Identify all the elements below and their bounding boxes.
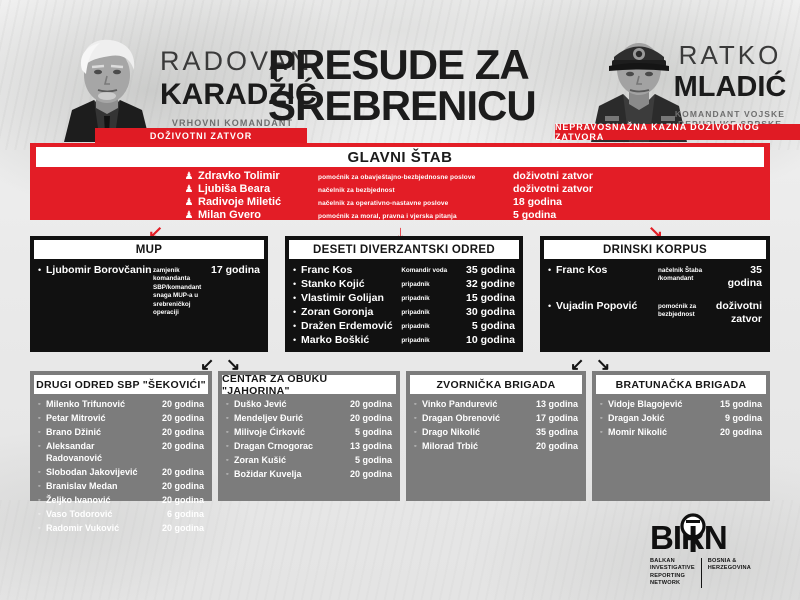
person-name: Drago Nikolić bbox=[422, 426, 524, 438]
person-sentence: 5 godina bbox=[463, 320, 515, 333]
person-name: Aleksandar Radovanović bbox=[46, 440, 153, 465]
list-item: ◦Aleksandar Radovanović20 godina bbox=[38, 440, 204, 465]
person-role: zamjenik komandanta SBP/komandant snaga … bbox=[153, 264, 208, 317]
list-item: ◦Dragan Jokić9 godina bbox=[600, 412, 762, 425]
person-icon: ♟ bbox=[180, 171, 198, 183]
person-role: pomoćnik za obavještajno-bezbjednosne po… bbox=[318, 174, 513, 181]
birn-logo: BIRN BALKANINVESTIGATIVEREPORTINGNETWORK… bbox=[650, 520, 790, 582]
list-item: ◦Milorad Trbić20 godina bbox=[414, 440, 578, 453]
page-title: PRESUDE ZA SREBRENICU bbox=[268, 44, 568, 126]
list-item: ◦Duško Jević20 godina bbox=[226, 398, 392, 411]
list-item: •Stanko Kojićpripadnik32 godine bbox=[293, 278, 515, 291]
sentence-banner-mladic: NEPRAVOSNAŽNA KAZNA DOŽIVOTNOG ZATVORA bbox=[555, 124, 800, 140]
person-name: Zoran Kušić bbox=[234, 454, 341, 466]
list-item: ◦Željko Ivanović20 godina bbox=[38, 494, 204, 507]
person-sentence: 20 godina bbox=[341, 398, 392, 410]
bullet-circle-icon: ◦ bbox=[38, 466, 46, 479]
list-item: •Ljubomir Borovčaninzamjenik komandanta … bbox=[38, 264, 260, 317]
box-deseti-diverzantski-odred-body: •Franc KosKomandir voda35 godina•Stanko … bbox=[293, 264, 515, 348]
person-sentence: 9 godina bbox=[708, 412, 762, 424]
bullet-icon: • bbox=[293, 278, 301, 291]
box-mup-title: MUP bbox=[34, 240, 264, 259]
person-sentence: 13 godina bbox=[524, 398, 578, 410]
person-name: Slobodan Jakovijević bbox=[46, 466, 153, 478]
box-drinski-korpus: DRINSKI KORPUS •Franc Kosnačelnik Štaba … bbox=[540, 236, 770, 352]
person-name: Duško Jević bbox=[234, 398, 341, 410]
bullet-circle-icon: ◦ bbox=[38, 494, 46, 507]
bullet-circle-icon: ◦ bbox=[600, 412, 608, 425]
person-sentence: 30 godina bbox=[463, 306, 515, 319]
list-item: ◦Zoran Kušić5 godina bbox=[226, 454, 392, 467]
bullet-icon: • bbox=[548, 264, 556, 277]
bullet-icon: • bbox=[293, 320, 301, 333]
bullet-circle-icon: ◦ bbox=[38, 480, 46, 493]
list-item: ◦Branislav Medan20 godina bbox=[38, 480, 204, 493]
box-drinski-korpus-title: DRINSKI KORPUS bbox=[544, 240, 766, 259]
logo-divider bbox=[701, 558, 702, 588]
sentence-banner-karadzic: DOŽIVOTNI ZATVOR bbox=[95, 128, 307, 143]
person-name: Branislav Medan bbox=[46, 480, 153, 492]
person-icon: ♟ bbox=[180, 197, 198, 209]
bullet-circle-icon: ◦ bbox=[600, 426, 608, 439]
first-name-right: RATKO bbox=[660, 42, 800, 68]
person-name: Željko Ivanović bbox=[46, 494, 153, 506]
bullet-circle-icon: ◦ bbox=[600, 398, 608, 411]
person-name: Milivoje Ćirković bbox=[234, 426, 341, 438]
bullet-circle-icon: ◦ bbox=[38, 508, 46, 521]
box-drugi-odred-sbp-sekovici-body: ◦Milenko Trifunović20 godina◦Petar Mitro… bbox=[38, 398, 204, 536]
person-sentence: 20 godina bbox=[153, 480, 204, 492]
list-item: •Franc KosKomandir voda35 godina bbox=[293, 264, 515, 277]
person-name: Dražen Erdemović bbox=[301, 320, 401, 333]
person-role: pomoćnik za bezbjednost bbox=[658, 300, 714, 320]
birn-logo-right-lines: BOSNIA &HERZEGOVINA bbox=[708, 558, 751, 588]
person-sentence: 32 godine bbox=[463, 278, 515, 291]
box-centar-za-obuku-jahorina: CENTAR ZA OBUKU "JAHORINA" ◦Duško Jević2… bbox=[218, 371, 400, 501]
logo-line: BOSNIA & bbox=[708, 558, 751, 565]
person-name: Zoran Goronja bbox=[301, 306, 401, 319]
box-mup-body: •Ljubomir Borovčaninzamjenik komandanta … bbox=[38, 264, 260, 318]
bullet-circle-icon: ◦ bbox=[414, 412, 422, 425]
person-sentence: 20 godina bbox=[153, 522, 204, 534]
list-item: •Vujadin Popovićpomoćnik za bezbjednostd… bbox=[548, 300, 762, 326]
box-deseti-diverzantski-odred-title: DESETI DIVERZANTSKI ODRED bbox=[289, 240, 519, 259]
list-item: ◦Slobodan Jakovijević20 godina bbox=[38, 466, 204, 479]
infographic-canvas: RADOVAN KARADŽIĆ VRHOVNI KOMANDANT DOŽIV… bbox=[0, 0, 800, 600]
bullet-circle-icon: ◦ bbox=[414, 426, 422, 439]
page-title-line2: SREBRENICU bbox=[268, 85, 568, 126]
bullet-icon: • bbox=[293, 292, 301, 305]
bullet-circle-icon: ◦ bbox=[414, 440, 422, 453]
bullet-circle-icon: ◦ bbox=[38, 440, 46, 453]
person-sentence: 5 godina bbox=[341, 426, 392, 438]
person-sentence: 35 godina bbox=[714, 264, 762, 290]
box-bratunacka-brigada-title: BRATUNAČKA BRIGADA bbox=[596, 375, 766, 394]
person-sentence: 15 godina bbox=[463, 292, 515, 305]
bullet-circle-icon: ◦ bbox=[226, 440, 234, 453]
bullet-circle-icon: ◦ bbox=[226, 468, 234, 481]
person-sentence: 15 godina bbox=[708, 398, 762, 410]
box-centar-za-obuku-jahorina-title: CENTAR ZA OBUKU "JAHORINA" bbox=[222, 375, 396, 394]
person-role: pripadnik bbox=[401, 292, 463, 303]
person-name: Vinko Pandurević bbox=[422, 398, 524, 410]
person-name: Milan Gvero bbox=[198, 209, 318, 221]
list-item: ◦Milenko Trifunović20 godina bbox=[38, 398, 204, 411]
person-name: Zdravko Tolimir bbox=[198, 170, 318, 182]
person-name: Milorad Trbić bbox=[422, 440, 524, 452]
person-icon: ♟ bbox=[180, 184, 198, 196]
person-name: Vujadin Popović bbox=[556, 300, 658, 313]
person-role: pomoćnik za moral, pravna i vjerska pita… bbox=[318, 213, 513, 220]
bullet-circle-icon: ◦ bbox=[226, 454, 234, 467]
person-sentence: 10 godina bbox=[463, 334, 515, 347]
sentence-banner-karadzic-label: DOŽIVOTNI ZATVOR bbox=[150, 131, 252, 141]
role-right-line1: KOMANDANT VOJSKE bbox=[660, 110, 800, 119]
person-name: Milenko Trifunović bbox=[46, 398, 153, 410]
box-zvornicka-brigada-body: ◦Vinko Pandurević13 godina◦Dragan Obreno… bbox=[414, 398, 578, 454]
glavni-stab-panel: GLAVNI ŠTAB ♟Zdravko Tolimirpomoćnik za … bbox=[30, 143, 770, 220]
bullet-icon: • bbox=[548, 300, 556, 313]
list-item: •Zoran Goronjapripadnik30 godina bbox=[293, 306, 515, 319]
list-item: ◦Vinko Pandurević13 godina bbox=[414, 398, 578, 411]
portrait-radovan-karadzic bbox=[52, 30, 162, 142]
box-drugi-odred-sbp-sekovici: DRUGI ODRED SBP "ŠEKOVIĆI" ◦Milenko Trif… bbox=[30, 371, 212, 501]
list-item: ◦Vaso Todorović6 godina bbox=[38, 508, 204, 521]
person-icon: ♟ bbox=[180, 210, 198, 222]
person-name: Dragan Obrenović bbox=[422, 412, 524, 424]
person-sentence: 20 godina bbox=[153, 412, 204, 424]
person-name: Brano Džinić bbox=[46, 426, 153, 438]
person-name: Franc Kos bbox=[556, 264, 658, 277]
bullet-circle-icon: ◦ bbox=[38, 398, 46, 411]
person-name: Petar Mitrović bbox=[46, 412, 153, 424]
person-sentence: doživotni zatvor bbox=[513, 183, 593, 195]
person-name: Mendeljev Đurić bbox=[234, 412, 341, 424]
person-sentence: 5 godina bbox=[513, 209, 556, 221]
box-centar-za-obuku-jahorina-body: ◦Duško Jević20 godina◦Mendeljev Đurić20 … bbox=[226, 398, 392, 482]
box-zvornicka-brigada: ZVORNIČKA BRIGADA ◦Vinko Pandurević13 go… bbox=[406, 371, 586, 501]
person-sentence: 20 godina bbox=[341, 412, 392, 424]
person-sentence: 20 godina bbox=[524, 440, 578, 452]
bullet-icon: • bbox=[293, 264, 301, 277]
box-drinski-korpus-body: •Franc Kosnačelnik Štaba /komandant35 go… bbox=[548, 264, 762, 336]
bullet-icon: • bbox=[293, 334, 301, 347]
person-sentence: 20 godina bbox=[708, 426, 762, 438]
person-name: Vidoje Blagojević bbox=[608, 398, 708, 410]
list-item: ◦Mendeljev Đurić20 godina bbox=[226, 412, 392, 425]
person-name: Vaso Todorović bbox=[46, 508, 153, 520]
bullet-circle-icon: ◦ bbox=[38, 412, 46, 425]
person-name: Franc Kos bbox=[301, 264, 401, 277]
person-sentence: 35 godina bbox=[463, 264, 515, 277]
list-item: ◦Milivoje Ćirković5 godina bbox=[226, 426, 392, 439]
person-name: Dragan Crnogorac bbox=[234, 440, 341, 452]
box-mup: MUP •Ljubomir Borovčaninzamjenik komanda… bbox=[30, 236, 268, 352]
list-item: ◦Dragan Obrenović17 godina bbox=[414, 412, 578, 425]
person-sentence: 20 godina bbox=[153, 494, 204, 506]
glavni-stab-row: ♟Radivoje Miletićnačelnik za operativno-… bbox=[180, 196, 800, 209]
person-role: pripadnik bbox=[401, 334, 463, 345]
birn-logo-subtitle: BALKANINVESTIGATIVEREPORTINGNETWORK BOSN… bbox=[650, 558, 790, 588]
person-name: Radivoje Miletić bbox=[198, 196, 318, 208]
glavni-stab-row: ♟Zdravko Tolimirpomoćnik za obavještajno… bbox=[180, 170, 800, 183]
person-role: načelnik Štaba /komandant bbox=[658, 264, 714, 284]
bullet-icon: • bbox=[38, 264, 46, 277]
person-role: pripadnik bbox=[401, 278, 463, 289]
box-drugi-odred-sbp-sekovici-title: DRUGI ODRED SBP "ŠEKOVIĆI" bbox=[34, 375, 208, 394]
person-sentence: 17 godina bbox=[524, 412, 578, 424]
person-sentence: 20 godina bbox=[341, 468, 392, 480]
box-zvornicka-brigada-title: ZVORNIČKA BRIGADA bbox=[410, 375, 582, 394]
person-sentence: 20 godina bbox=[153, 426, 204, 438]
page-title-line1: PRESUDE ZA bbox=[268, 44, 568, 85]
person-sentence: 13 godina bbox=[341, 440, 392, 452]
person-name: Marko Boškić bbox=[301, 334, 401, 347]
bullet-circle-icon: ◦ bbox=[38, 426, 46, 439]
person-role: načelnik za operativno-nastavne poslove bbox=[318, 200, 513, 207]
person-sentence: 20 godina bbox=[153, 466, 204, 478]
list-item: ◦Božidar Kuvelja20 godina bbox=[226, 468, 392, 481]
person-role: Komandir voda bbox=[401, 264, 463, 275]
person-name: Božidar Kuvelja bbox=[234, 468, 341, 480]
person-name: Dragan Jokić bbox=[608, 412, 708, 424]
list-item: ◦Dragan Crnogorac13 godina bbox=[226, 440, 392, 453]
person-sentence: 5 godina bbox=[341, 454, 392, 466]
birn-logo-wordmark: BIRN bbox=[650, 520, 790, 556]
name-block-right: RATKO MLADIĆ KOMANDANT VOJSKE REPUBLIKE … bbox=[660, 42, 800, 128]
person-sentence: 18 godina bbox=[513, 196, 562, 208]
logo-line: HERZEGOVINA bbox=[708, 565, 751, 572]
list-item: ◦Momir Nikolić20 godina bbox=[600, 426, 762, 439]
box-deseti-diverzantski-odred: DESETI DIVERZANTSKI ODRED •Franc KosKoma… bbox=[285, 236, 523, 352]
list-item: •Dražen Erdemovićpripadnik5 godina bbox=[293, 320, 515, 333]
person-sentence: 6 godina bbox=[153, 508, 204, 520]
person-sentence: 20 godina bbox=[153, 440, 204, 452]
birn-logo-left-lines: BALKANINVESTIGATIVEREPORTINGNETWORK bbox=[650, 558, 695, 588]
list-item: •Franc Kosnačelnik Štaba /komandant35 go… bbox=[548, 264, 762, 290]
box-bratunacka-brigada: BRATUNAČKA BRIGADA ◦Vidoje Blagojević15 … bbox=[592, 371, 770, 501]
person-role: pripadnik bbox=[401, 320, 463, 331]
bullet-circle-icon: ◦ bbox=[38, 522, 46, 535]
sentence-banner-mladic-label: NEPRAVOSNAŽNA KAZNA DOŽIVOTNOG ZATVORA bbox=[555, 122, 800, 142]
person-sentence: 17 godina bbox=[208, 264, 260, 277]
bullet-circle-icon: ◦ bbox=[226, 426, 234, 439]
bullet-circle-icon: ◦ bbox=[414, 398, 422, 411]
box-bratunacka-brigada-body: ◦Vidoje Blagojević15 godina◦Dragan Jokić… bbox=[600, 398, 762, 440]
person-name: Stanko Kojić bbox=[301, 278, 401, 291]
last-name-right: MLADIĆ bbox=[660, 73, 800, 102]
person-sentence: doživotni zatvor bbox=[513, 170, 593, 182]
glavni-stab-title: GLAVNI ŠTAB bbox=[36, 147, 764, 167]
bullet-circle-icon: ◦ bbox=[226, 412, 234, 425]
person-role: pripadnik bbox=[401, 306, 463, 317]
glavni-stab-list: ♟Zdravko Tolimirpomoćnik za obavještajno… bbox=[180, 170, 800, 222]
person-name: Vlastimir Golijan bbox=[301, 292, 401, 305]
person-sentence: 20 godina bbox=[153, 398, 204, 410]
glavni-stab-row: ♟Ljubiša Bearanačelnik za bezbjednostdož… bbox=[180, 183, 800, 196]
list-item: ◦Vidoje Blagojević15 godina bbox=[600, 398, 762, 411]
logo-line: BALKAN bbox=[650, 558, 695, 565]
bullet-circle-icon: ◦ bbox=[226, 398, 234, 411]
list-item: •Vlastimir Golijanpripadnik15 godina bbox=[293, 292, 515, 305]
glavni-stab-row: ♟Milan Gveropomoćnik za moral, pravna i … bbox=[180, 209, 800, 222]
bullet-icon: • bbox=[293, 306, 301, 319]
person-role: načelnik za bezbjednost bbox=[318, 187, 513, 194]
logo-line: INVESTIGATIVE bbox=[650, 565, 695, 572]
list-item: ◦Drago Nikolić35 godina bbox=[414, 426, 578, 439]
magnifying-glass-icon bbox=[677, 513, 709, 553]
person-name: Ljubomir Borovčanin bbox=[46, 264, 153, 277]
person-sentence: 35 godina bbox=[524, 426, 578, 438]
logo-line: NETWORK bbox=[650, 580, 695, 587]
logo-line: REPORTING bbox=[650, 573, 695, 580]
person-name: Ljubiša Beara bbox=[198, 183, 318, 195]
list-item: •Marko Boškićpripadnik10 godina bbox=[293, 334, 515, 347]
person-name: Radomir Vuković bbox=[46, 522, 153, 534]
person-sentence: doživotni zatvor bbox=[714, 300, 762, 326]
person-name: Momir Nikolić bbox=[608, 426, 708, 438]
list-item: ◦Radomir Vuković20 godina bbox=[38, 522, 204, 535]
list-item: ◦Brano Džinić20 godina bbox=[38, 426, 204, 439]
list-item: ◦Petar Mitrović20 godina bbox=[38, 412, 204, 425]
